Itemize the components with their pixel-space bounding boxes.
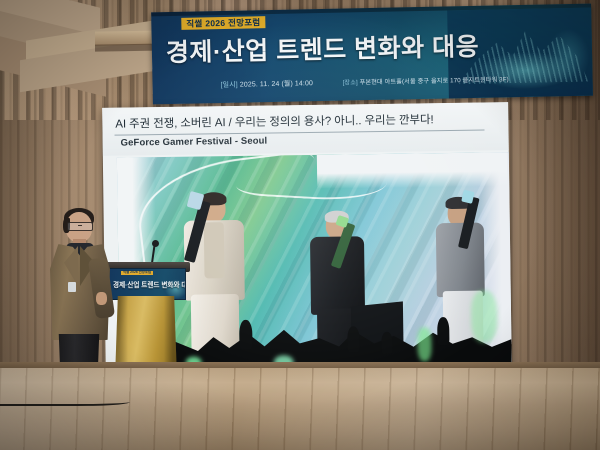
photo-light-glow-3: [417, 327, 431, 361]
photo-top-fade: [317, 152, 507, 189]
conference-photo-scene: 직썰 2026 전망포럼 경제·산업 트렌드 변화와 대응 [일시] 2025.…: [0, 0, 600, 450]
photo-raised-hand-2: [347, 326, 359, 352]
banner-place-label: [장소]: [343, 79, 358, 86]
photo-raised-hand-4: [437, 317, 449, 345]
photo-light-glow-4: [471, 290, 498, 342]
microphone-head-2: [152, 240, 159, 247]
banner-date-label: [일시]: [221, 82, 238, 89]
banner-date-line: [일시] 2025. 11. 24 (월) 14:00: [220, 78, 313, 90]
banner-forum-tag: 직썰 2026 전망포럼: [181, 16, 265, 30]
photo-raised-hand-1: [239, 320, 252, 350]
floor-reflection: [0, 368, 600, 450]
photo-person-left-shirt: [204, 222, 225, 278]
podium-sign: 직썰 2026 전망포럼 경제·산업 트렌드 변화와 대응: [108, 268, 186, 300]
speaker-name-badge: [68, 282, 76, 292]
event-banner: 직썰 2026 전망포럼 경제·산업 트렌드 변화와 대응 [일시] 2025.…: [151, 4, 593, 105]
slide-subtitle: GeForce Gamer Festival - Seoul: [121, 136, 268, 149]
podium-sign-tag: 직썰 2026 전망포럼: [121, 271, 153, 275]
banner-date-value: 2025. 11. 24 (월) 14:00: [240, 80, 313, 88]
speaker-hand: [96, 292, 107, 305]
podium-sign-title: 경제·산업 트렌드 변화와 대응: [113, 279, 186, 289]
speaker-glasses-icon: [67, 222, 93, 231]
floor-cable: [0, 396, 130, 406]
photo-raised-hand-3: [381, 332, 392, 354]
